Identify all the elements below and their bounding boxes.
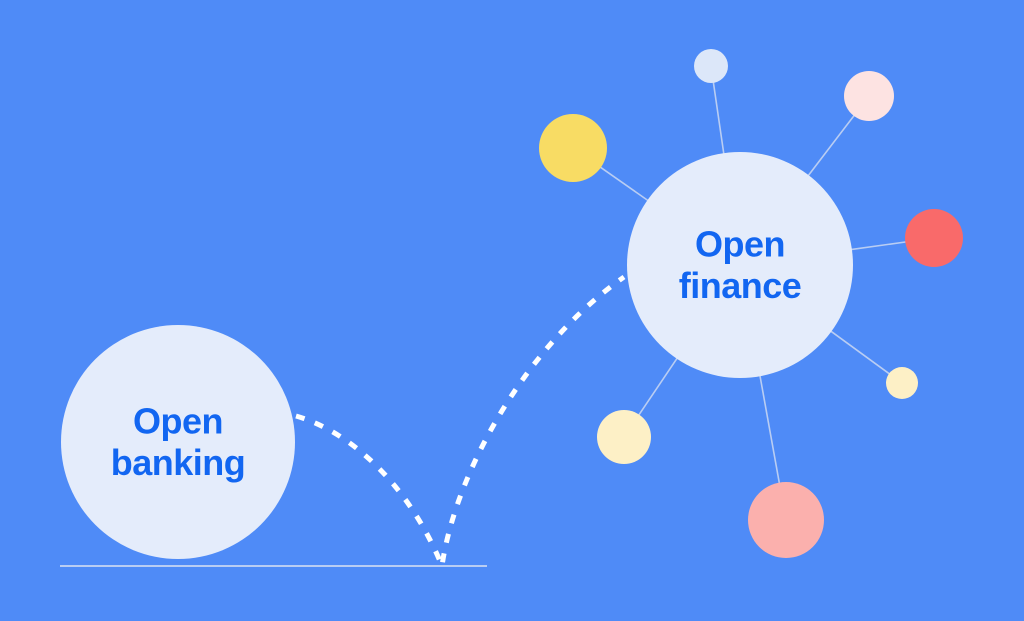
hub-open-banking[interactable]: Openbanking <box>61 325 295 559</box>
yellow-node[interactable] <box>539 114 607 182</box>
hub-label-line: Open <box>695 223 785 264</box>
hub-label-line: finance <box>679 265 802 306</box>
hub-open-finance[interactable]: Openfinance <box>627 152 853 378</box>
open-finance-diagram: OpenbankingOpenfinance <box>0 0 1024 621</box>
hub-label-line: banking <box>111 442 246 483</box>
hub-label-line: Open <box>133 400 223 441</box>
coral-node[interactable] <box>905 209 963 267</box>
pink-node[interactable] <box>748 482 824 558</box>
small-cream-node[interactable] <box>886 367 918 399</box>
pale-blue-node[interactable] <box>694 49 728 83</box>
diagram-stage: OpenbankingOpenfinance <box>0 0 1024 621</box>
cream-node[interactable] <box>597 410 651 464</box>
hub-label-open-finance: Openfinance <box>679 223 802 306</box>
pale-pink-node[interactable] <box>844 71 894 121</box>
